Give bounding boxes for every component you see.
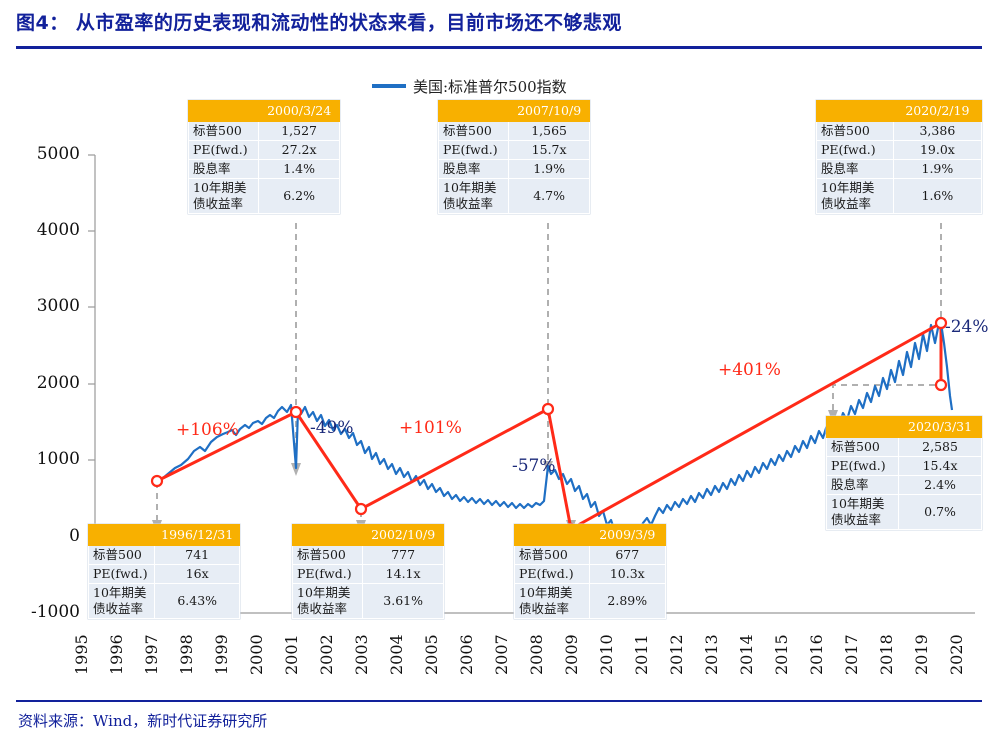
callout-box-2020-03-31: 2020/3/31 标普500 2,585 PE(fwd.) 15.4x 股息率… bbox=[826, 416, 982, 530]
row-label-ust10y-line2: 债收益率 bbox=[297, 601, 347, 616]
row-label-ust10y-line2: 债收益率 bbox=[443, 196, 493, 211]
x-axis-label-2016: 2016 bbox=[807, 634, 826, 675]
row-label-pe: PE(fwd.) bbox=[89, 565, 155, 584]
callout-date: 2007/10/9 bbox=[509, 101, 590, 122]
row-value-ust10y: 2.89% bbox=[589, 584, 665, 619]
callout-header-blank bbox=[827, 417, 899, 438]
callout-box-2009-03-09: 2009/3/9 标普500 677 PE(fwd.) 10.3x 10年期美 … bbox=[514, 524, 666, 619]
callout-box-1996-12-31: 1996/12/31 标普500 741 PE(fwd.) 16x 10年期美 … bbox=[88, 524, 240, 619]
callout-header-blank bbox=[515, 525, 590, 546]
row-label-ust10y: 10年期美 债收益率 bbox=[817, 179, 894, 214]
callout-row-ust10y: 10年期美 债收益率 6.43% bbox=[89, 584, 240, 619]
row-label-ust10y-line1: 10年期美 bbox=[443, 180, 496, 195]
callout-header-row: 1996/12/31 bbox=[89, 525, 240, 546]
callout-header-row: 2007/10/9 bbox=[439, 101, 590, 122]
row-label-ust10y-line1: 10年期美 bbox=[297, 585, 350, 600]
x-axis-label-1998: 1998 bbox=[177, 634, 196, 675]
row-label-ust10y-line2: 债收益率 bbox=[821, 196, 871, 211]
callout-row-ust10y: 10年期美 债收益率 4.7% bbox=[439, 179, 590, 214]
figure-title: 图4： 从市盈率的历史表现和流动性的状态来看，目前市场还不够悲观 bbox=[16, 8, 982, 44]
row-label-pe: PE(fwd.) bbox=[293, 565, 363, 584]
row-label-sp500: 标普500 bbox=[817, 122, 894, 141]
marker-2000-03-24 bbox=[291, 407, 301, 417]
pct-label-101: +101% bbox=[399, 418, 462, 438]
row-label-ust10y: 10年期美 债收益率 bbox=[189, 179, 259, 214]
row-value-dividend: 2.4% bbox=[899, 476, 982, 495]
y-axis-label-0: 0 bbox=[10, 526, 80, 546]
callout-row-sp500: 标普500 2,585 bbox=[827, 438, 982, 457]
row-label-ust10y-line2: 债收益率 bbox=[193, 196, 243, 211]
callout-date: 2009/3/9 bbox=[589, 525, 665, 546]
row-label-pe: PE(fwd.) bbox=[827, 457, 899, 476]
pct-label-57: -57% bbox=[512, 456, 556, 476]
x-axis-label-1996: 1996 bbox=[107, 634, 126, 675]
marker-1996-12-31 bbox=[152, 476, 162, 486]
callout-row-ust10y: 10年期美 债收益率 1.6% bbox=[817, 179, 982, 214]
callout-row-sp500: 标普500 677 bbox=[515, 546, 666, 565]
callout-leaders bbox=[157, 223, 941, 530]
row-label-ust10y: 10年期美 债收益率 bbox=[439, 179, 509, 214]
callout-date: 1996/12/31 bbox=[155, 525, 240, 546]
pct-label-24: -24% bbox=[945, 317, 989, 337]
row-value-ust10y: 1.6% bbox=[893, 179, 981, 214]
callout-row-dividend: 股息率 2.4% bbox=[827, 476, 982, 495]
callout-row-pe: PE(fwd.) 15.4x bbox=[827, 457, 982, 476]
row-value-dividend: 1.9% bbox=[893, 160, 981, 179]
row-value-pe: 16x bbox=[155, 565, 240, 584]
callout-date: 2020/3/31 bbox=[899, 417, 982, 438]
callout-box-2002-10-09: 2002/10/9 标普500 777 PE(fwd.) 14.1x 10年期美… bbox=[292, 524, 444, 619]
x-axis-label-2000: 2000 bbox=[247, 634, 266, 675]
row-value-sp500: 777 bbox=[363, 546, 444, 565]
x-axis-label-2005: 2005 bbox=[422, 634, 441, 675]
marker-2007-10-09 bbox=[543, 404, 553, 414]
callout-row-ust10y: 10年期美 债收益率 6.2% bbox=[189, 179, 340, 214]
row-label-ust10y: 10年期美 债收益率 bbox=[293, 584, 363, 619]
callout-header-blank bbox=[293, 525, 363, 546]
x-axis-label-2014: 2014 bbox=[737, 634, 756, 675]
row-label-ust10y-line1: 10年期美 bbox=[93, 585, 146, 600]
callout-header-row: 2020/2/19 bbox=[817, 101, 982, 122]
x-axis-label-2002: 2002 bbox=[317, 634, 336, 675]
row-label-pe: PE(fwd.) bbox=[515, 565, 590, 584]
row-label-ust10y-line2: 债收益率 bbox=[831, 512, 881, 527]
row-value-ust10y: 4.7% bbox=[509, 179, 590, 214]
callout-row-sp500: 标普500 1,527 bbox=[189, 122, 340, 141]
row-value-pe: 19.0x bbox=[893, 141, 981, 160]
row-label-pe: PE(fwd.) bbox=[189, 141, 259, 160]
row-value-pe: 27.2x bbox=[259, 141, 340, 160]
pct-label-49: -49% bbox=[310, 418, 354, 438]
x-axis-label-2012: 2012 bbox=[667, 634, 686, 675]
row-value-ust10y: 6.2% bbox=[259, 179, 340, 214]
row-value-pe: 15.7x bbox=[509, 141, 590, 160]
callout-header-row: 2020/3/31 bbox=[827, 417, 982, 438]
callout-box-2000-03-24: 2000/3/24 标普500 1,527 PE(fwd.) 27.2x 股息率… bbox=[188, 100, 340, 214]
x-axis-label-2011: 2011 bbox=[632, 634, 651, 675]
callout-row-dividend: 股息率 1.4% bbox=[189, 160, 340, 179]
callout-header-row: 2009/3/9 bbox=[515, 525, 666, 546]
callout-row-pe: PE(fwd.) 15.7x bbox=[439, 141, 590, 160]
callout-row-sp500: 标普500 1,565 bbox=[439, 122, 590, 141]
row-label-ust10y: 10年期美 债收益率 bbox=[827, 495, 899, 530]
footer-divider bbox=[16, 700, 982, 702]
row-value-ust10y: 3.61% bbox=[363, 584, 444, 619]
x-axis-label-2001: 2001 bbox=[282, 634, 301, 675]
x-axis-label-2018: 2018 bbox=[877, 634, 896, 675]
callout-row-pe: PE(fwd.) 16x bbox=[89, 565, 240, 584]
callout-row-ust10y: 10年期美 债收益率 3.61% bbox=[293, 584, 444, 619]
callout-row-pe: PE(fwd.) 19.0x bbox=[817, 141, 982, 160]
callout-header-blank bbox=[189, 101, 259, 122]
callout-header-blank bbox=[439, 101, 509, 122]
row-label-sp500: 标普500 bbox=[515, 546, 590, 565]
callout-row-ust10y: 10年期美 债收益率 0.7% bbox=[827, 495, 982, 530]
x-axis-label-2015: 2015 bbox=[772, 634, 791, 675]
callout-row-dividend: 股息率 1.9% bbox=[439, 160, 590, 179]
row-value-dividend: 1.4% bbox=[259, 160, 340, 179]
source-note: 资料来源：Wind，新时代证券研究所 bbox=[18, 710, 267, 731]
callout-box-2020-02-19: 2020/2/19 标普500 3,386 PE(fwd.) 19.0x 股息率… bbox=[816, 100, 982, 214]
row-value-ust10y: 6.43% bbox=[155, 584, 240, 619]
callout-header-row: 2002/10/9 bbox=[293, 525, 444, 546]
callout-date: 2002/10/9 bbox=[363, 525, 444, 546]
x-axis-label-2009: 2009 bbox=[562, 634, 581, 675]
marker-2020-03-31 bbox=[936, 380, 946, 390]
row-label-dividend: 股息率 bbox=[817, 160, 894, 179]
callout-row-pe: PE(fwd.) 27.2x bbox=[189, 141, 340, 160]
x-axis-label-2004: 2004 bbox=[387, 634, 406, 675]
callout-date: 2020/2/19 bbox=[893, 101, 981, 122]
x-axis-label-2020: 2020 bbox=[947, 634, 966, 675]
row-label-sp500: 标普500 bbox=[439, 122, 509, 141]
x-axis-label-1995: 1995 bbox=[72, 634, 91, 675]
callout-box-2007-10-09: 2007/10/9 标普500 1,565 PE(fwd.) 15.7x 股息率… bbox=[438, 100, 590, 214]
marker-2002-10-09 bbox=[356, 504, 366, 514]
row-value-sp500: 741 bbox=[155, 546, 240, 565]
x-axis-label-1997: 1997 bbox=[142, 634, 161, 675]
row-value-sp500: 1,527 bbox=[259, 122, 340, 141]
row-value-sp500: 1,565 bbox=[509, 122, 590, 141]
row-label-ust10y: 10年期美 债收益率 bbox=[515, 584, 590, 619]
x-axis-label-2013: 2013 bbox=[702, 634, 721, 675]
row-label-sp500: 标普500 bbox=[293, 546, 363, 565]
x-axis-label-2006: 2006 bbox=[457, 634, 476, 675]
row-value-pe: 15.4x bbox=[899, 457, 982, 476]
row-value-sp500: 677 bbox=[589, 546, 665, 565]
callout-header-blank bbox=[89, 525, 155, 546]
row-value-pe: 14.1x bbox=[363, 565, 444, 584]
pct-label-106: +106% bbox=[176, 420, 239, 440]
row-label-ust10y-line2: 债收益率 bbox=[519, 601, 569, 616]
row-label-ust10y-line1: 10年期美 bbox=[831, 496, 884, 511]
callout-row-pe: PE(fwd.) 14.1x bbox=[293, 565, 444, 584]
row-value-sp500: 3,386 bbox=[893, 122, 981, 141]
row-label-dividend: 股息率 bbox=[439, 160, 509, 179]
row-value-ust10y: 0.7% bbox=[899, 495, 982, 530]
row-label-ust10y-line1: 10年期美 bbox=[519, 585, 572, 600]
row-label-sp500: 标普500 bbox=[189, 122, 259, 141]
callout-row-sp500: 标普500 3,386 bbox=[817, 122, 982, 141]
row-label-dividend: 股息率 bbox=[827, 476, 899, 495]
row-label-sp500: 标普500 bbox=[89, 546, 155, 565]
x-axis-label-2017: 2017 bbox=[842, 634, 861, 675]
callout-row-dividend: 股息率 1.9% bbox=[817, 160, 982, 179]
row-value-pe: 10.3x bbox=[589, 565, 665, 584]
callout-header-blank bbox=[817, 101, 894, 122]
callout-row-pe: PE(fwd.) 10.3x bbox=[515, 565, 666, 584]
y-axis-label-5000: 5000 bbox=[10, 144, 80, 164]
row-label-ust10y-line1: 10年期美 bbox=[193, 180, 246, 195]
y-axis-label-1000: 1000 bbox=[10, 449, 80, 469]
row-label-ust10y: 10年期美 债收益率 bbox=[89, 584, 155, 619]
callout-row-ust10y: 10年期美 债收益率 2.89% bbox=[515, 584, 666, 619]
title-divider bbox=[16, 46, 982, 49]
y-axis-label-2000: 2000 bbox=[10, 373, 80, 393]
row-label-pe: PE(fwd.) bbox=[439, 141, 509, 160]
row-label-ust10y-line2: 债收益率 bbox=[93, 601, 143, 616]
x-axis-label-2008: 2008 bbox=[527, 634, 546, 675]
row-label-pe: PE(fwd.) bbox=[817, 141, 894, 160]
row-label-sp500: 标普500 bbox=[827, 438, 899, 457]
x-axis-label-2010: 2010 bbox=[597, 634, 616, 675]
callout-date: 2000/3/24 bbox=[259, 101, 340, 122]
x-axis-label-1999: 1999 bbox=[212, 634, 231, 675]
x-axis-label-2003: 2003 bbox=[352, 634, 371, 675]
x-axis-label-2007: 2007 bbox=[492, 634, 511, 675]
callout-row-sp500: 标普500 777 bbox=[293, 546, 444, 565]
y-axis-label-3000: 3000 bbox=[10, 296, 80, 316]
row-value-dividend: 1.9% bbox=[509, 160, 590, 179]
callout-row-sp500: 标普500 741 bbox=[89, 546, 240, 565]
row-label-ust10y-line1: 10年期美 bbox=[821, 180, 874, 195]
row-value-sp500: 2,585 bbox=[899, 438, 982, 457]
pct-label-401: +401% bbox=[718, 360, 781, 380]
callout-header-row: 2000/3/24 bbox=[189, 101, 340, 122]
y-axis-label-4000: 4000 bbox=[10, 220, 80, 240]
row-label-dividend: 股息率 bbox=[189, 160, 259, 179]
x-axis-label-2019: 2019 bbox=[912, 634, 931, 675]
y-axis-label-neg1000: -1000 bbox=[10, 602, 80, 622]
